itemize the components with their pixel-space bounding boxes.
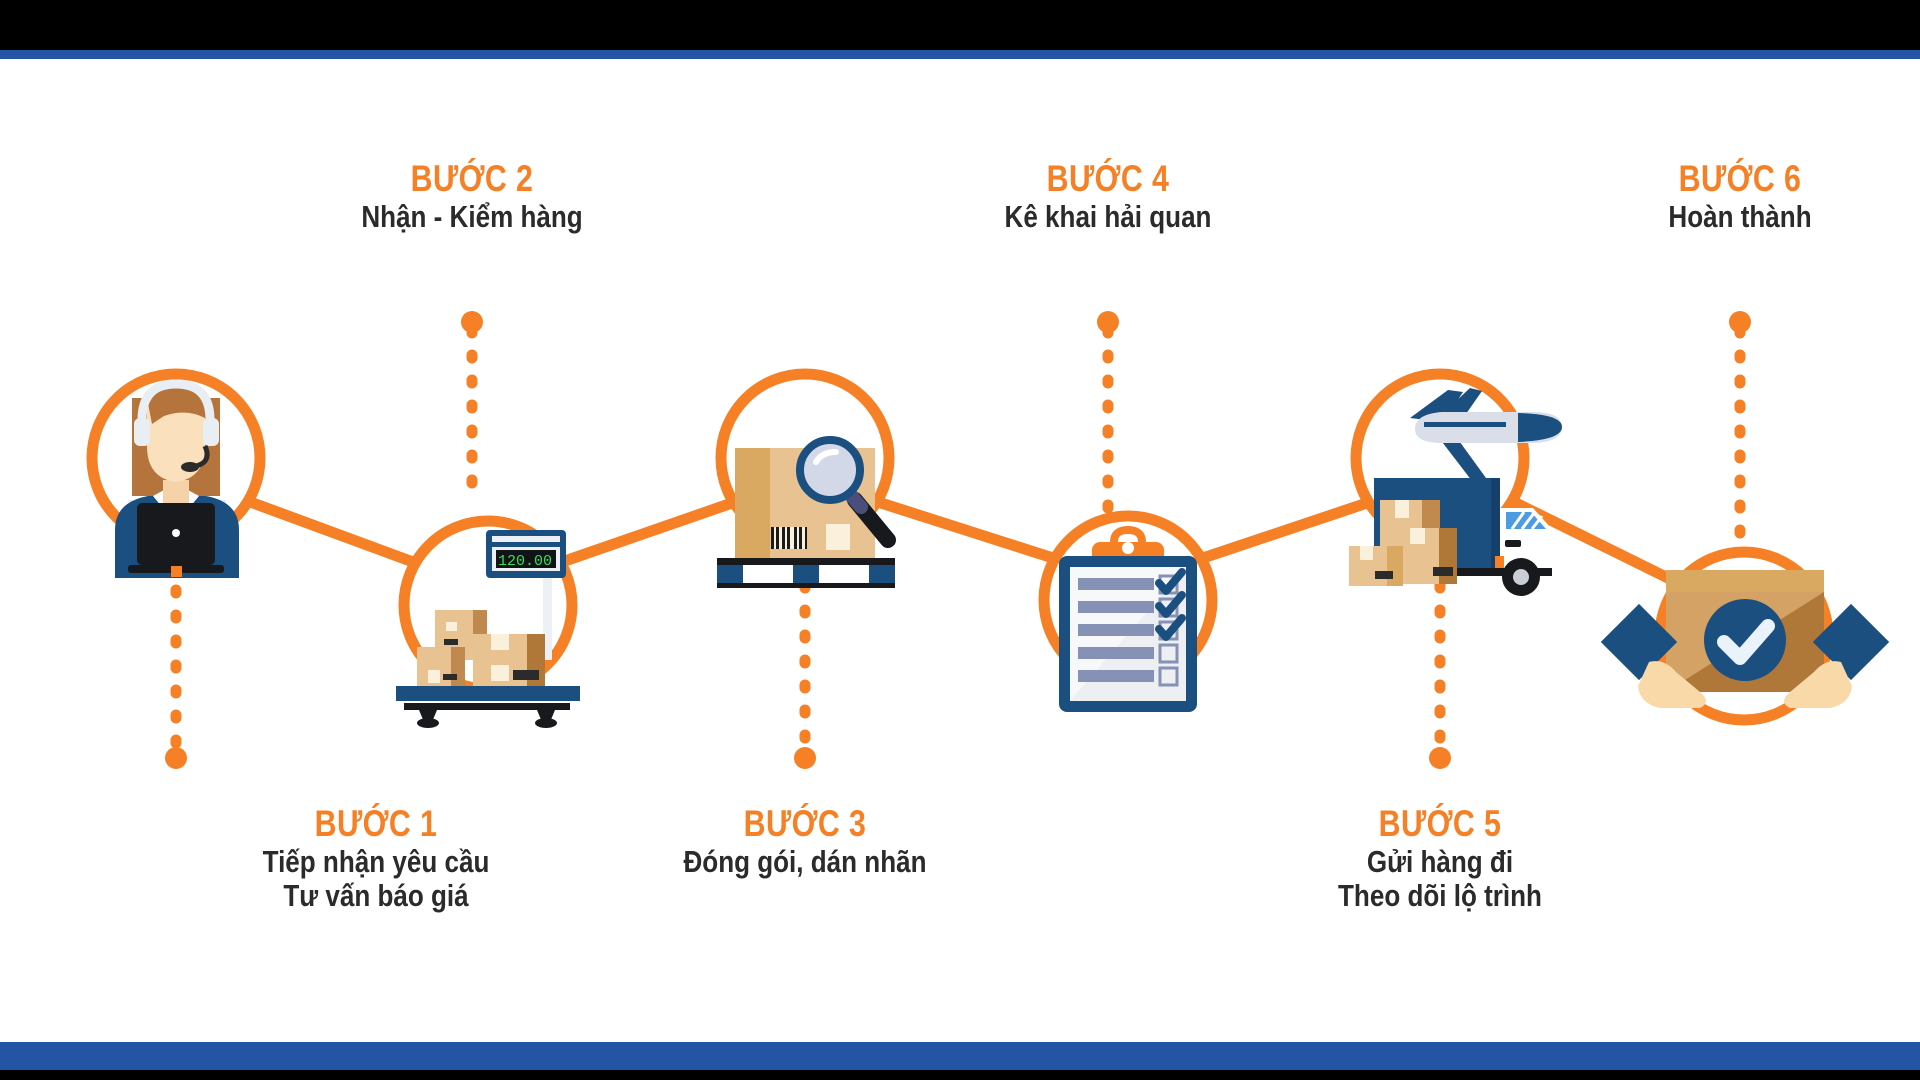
delivered-box-lid <box>1666 570 1824 592</box>
magnifier-lens <box>800 440 860 500</box>
pallet-block-right <box>869 565 895 583</box>
truck-box-a-tape <box>1395 500 1409 518</box>
step-2-label: BƯỚC 2 Nhận - Kiểm hàng <box>292 160 652 234</box>
step-5-number: BƯỚC 5 <box>1292 805 1587 843</box>
scale-foot-left <box>417 718 439 728</box>
truck-accent-stripe <box>1495 556 1504 570</box>
scale-box-big-tape-bottom <box>491 665 509 681</box>
step-2-desc-line-1: Nhận - Kiểm hàng <box>321 201 623 233</box>
step-6-desc-line-1: Hoàn thành <box>1589 201 1891 233</box>
headset-earcup-right <box>203 418 219 446</box>
connector-1-2 <box>253 503 413 562</box>
inspect-box-barcode-bg <box>771 527 807 549</box>
scale-box-top-barcode <box>444 639 458 645</box>
step-2-number: BƯỚC 2 <box>324 160 619 198</box>
step-1-desc-line-2: Tư vấn báo giá <box>225 880 527 912</box>
pallet-bottom-bar <box>717 583 895 588</box>
clipboard-row-2-bar <box>1078 601 1154 613</box>
dot-step-1 <box>165 747 187 769</box>
step-3-label: BƯỚC 3 Đóng gói, dán nhãn <box>625 805 985 879</box>
checklist-clipboard-icon <box>1059 530 1197 712</box>
truck-door-handle <box>1505 540 1521 547</box>
airplane-icon <box>1410 388 1562 481</box>
agent-laptop-hinge <box>171 566 182 577</box>
clipboard-row-1-bar <box>1078 578 1154 590</box>
pallet-top-bar <box>717 558 895 565</box>
connector-4-5 <box>1203 503 1367 558</box>
step-1-icon-group[interactable] <box>92 374 260 578</box>
step-5-icon-group[interactable] <box>1349 374 1562 596</box>
scale-box-big-barcode <box>513 670 539 680</box>
clipboard-clip-loop <box>1114 530 1142 542</box>
step-1-number: BƯỚC 1 <box>228 805 523 843</box>
step-1-label: BƯỚC 1 Tiếp nhận yêu cầu Tư vấn báo giá <box>196 805 556 912</box>
dot-step-2 <box>461 311 483 333</box>
pallet-block-mid <box>793 565 819 583</box>
headset-mic <box>181 462 199 472</box>
step-5-desc-line-1: Gửi hàng đi <box>1289 846 1591 878</box>
truck-box-c-barcode <box>1375 571 1393 579</box>
dot-step-6 <box>1729 311 1751 333</box>
scale-display-value: 120.00 <box>498 553 552 570</box>
step-5-label: BƯỚC 5 Gửi hàng đi Theo dõi lộ trình <box>1260 805 1620 912</box>
dot-step-5 <box>1429 747 1451 769</box>
scale-box-big-tape-top <box>491 634 509 650</box>
inspect-box-tape-bottom <box>826 524 850 550</box>
scale-platform <box>396 686 580 701</box>
step-6-label: BƯỚC 6 Hoàn thành <box>1560 160 1920 234</box>
dot-step-3 <box>794 747 816 769</box>
scale-box-top-tape <box>446 622 457 631</box>
step-4-number: BƯỚC 4 <box>960 160 1255 198</box>
headset-earcup-left <box>134 418 150 446</box>
step-4-icon-group[interactable] <box>1044 516 1212 712</box>
connector-2-3 <box>562 503 732 562</box>
step-6-icon-group[interactable] <box>1601 552 1889 720</box>
scale-display-top-strip <box>492 536 560 542</box>
step-3-number: BƯỚC 3 <box>657 805 952 843</box>
step-3-desc-line-1: Đóng gói, dán nhãn <box>654 846 956 878</box>
delivered-package-icon <box>1601 570 1889 708</box>
step-1-desc-line-1: Tiếp nhận yêu cầu <box>225 846 527 878</box>
scale-platform-under <box>404 703 570 710</box>
step-4-label: BƯỚC 4 Kê khai hải quan <box>928 160 1288 234</box>
truck-box-b-barcode <box>1433 567 1453 576</box>
customer-service-agent-icon <box>115 384 239 578</box>
clipboard-row-3-bar <box>1078 624 1154 636</box>
clipboard-row-5-bar <box>1078 670 1154 682</box>
truck-box-b-tape <box>1410 528 1425 544</box>
scale-box-small-tape <box>428 670 440 683</box>
scale-foot-right <box>535 718 557 728</box>
scale-box-small-barcode <box>443 674 457 680</box>
freight-transport-icon <box>1349 388 1562 596</box>
package-inspection-icon <box>717 440 895 588</box>
connector-3-4 <box>881 503 1053 558</box>
step-6-number: BƯỚC 6 <box>1592 160 1887 198</box>
pallet-block-left <box>717 565 743 583</box>
check-badge <box>1704 599 1786 681</box>
truck-cargo-edge <box>1491 478 1500 568</box>
agent-laptop-dot <box>172 529 180 537</box>
truck-hubcap <box>1513 569 1529 585</box>
infographic-canvas: 120.00 <box>0 0 1920 1080</box>
dot-step-4 <box>1097 311 1119 333</box>
truck-box-c-tape <box>1360 546 1373 560</box>
step-3-icon-group[interactable] <box>717 374 895 588</box>
step-5-desc-line-2: Theo dõi lộ trình <box>1289 880 1591 912</box>
clipboard-row-4-bar <box>1078 647 1154 659</box>
plane-stripe <box>1424 422 1506 427</box>
step-2-icon-group[interactable]: 120.00 <box>396 521 580 728</box>
step-4-desc-line-1: Kê khai hải quan <box>957 201 1259 233</box>
clipboard-clip-hole <box>1122 542 1134 554</box>
